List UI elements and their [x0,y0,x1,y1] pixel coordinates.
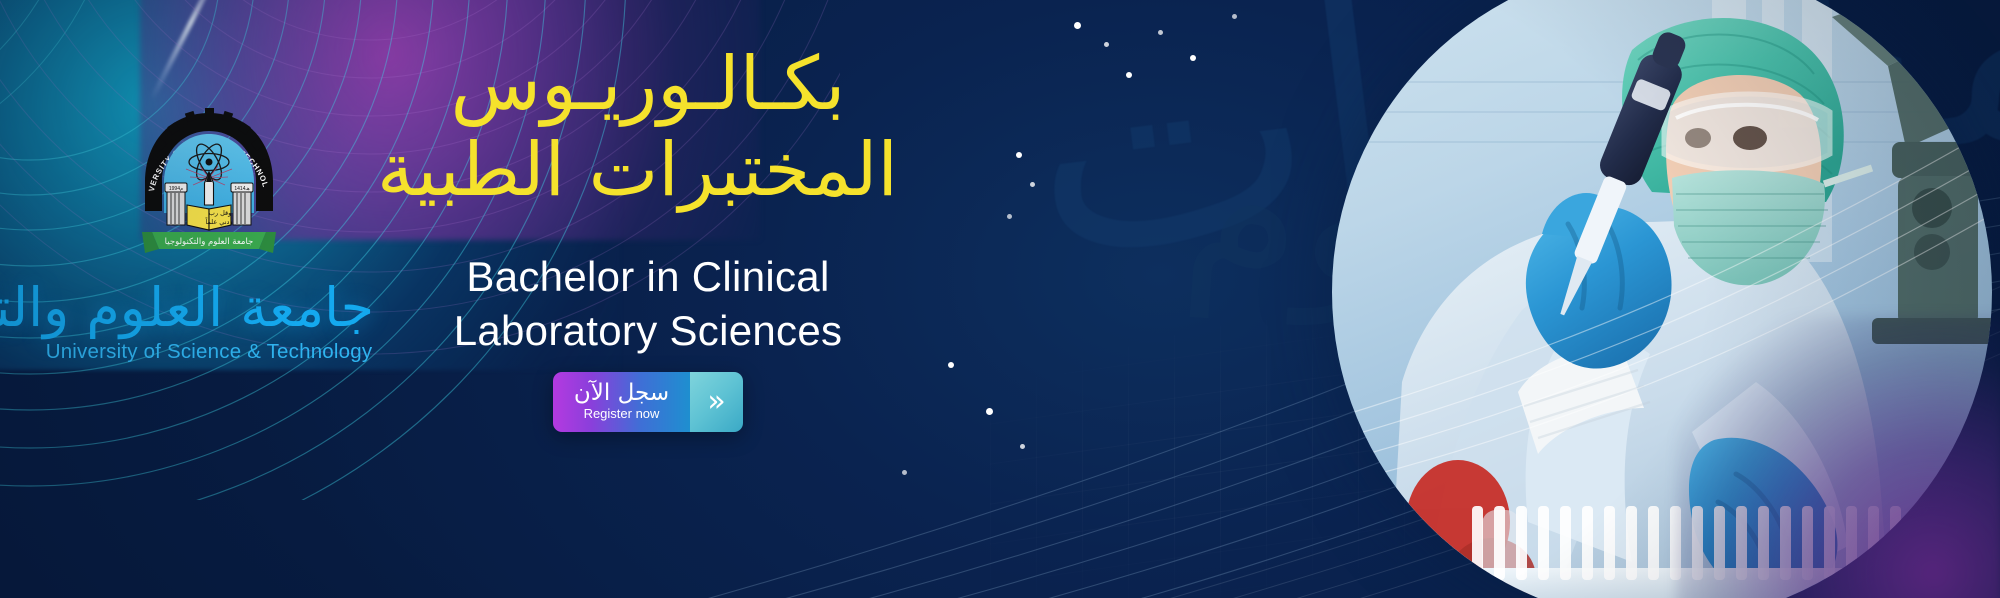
register-label-arabic: سجل الآن [574,381,669,405]
university-name-arabic: جامعة العلوم والتكنولوجيا [44,280,374,336]
headline-arabic: بكـالـوريـوس المختبرات الطبية [398,42,898,214]
decorative-dot [1074,22,1081,29]
chevron-right-double-icon[interactable]: » [690,372,743,432]
university-crest-icon: UNIVERSITY OF SCIENCE & TECHNOLOGY [134,106,284,258]
headline-line-2: المختبرات الطبية [398,128,898,214]
university-name-english: University of Science & Technology [44,340,374,364]
headline-line-1: بكـالـوريـوس [398,42,898,128]
register-button-label-group[interactable]: سجل الآن Register now [553,372,690,432]
decorative-dot [986,408,993,415]
svg-text:زدني علماً: زدني علماً [205,217,233,226]
svg-text:وقل رب: وقل رب [209,209,232,217]
corner-purple-glow [1676,316,2000,598]
decorative-dot [1158,30,1163,35]
decorative-dot [1104,42,1109,47]
subheadline-line-2: Laboratory Sciences [398,304,898,358]
svg-text:جامعة العلوم والتكنولوجيا: جامعة العلوم والتكنولوجيا [165,237,254,247]
decorative-dot [1030,182,1035,187]
hero-photo-container [1316,0,2000,598]
university-logo-block: UNIVERSITY OF SCIENCE & TECHNOLOGY [44,106,374,364]
register-label-english: Register now [584,407,660,421]
headline-english: Bachelor in Clinical Laboratory Sciences [398,250,898,358]
subheadline-line-1: Bachelor in Clinical [398,250,898,304]
decorative-dot [902,470,907,475]
svg-text:1994م: 1994م [169,186,183,192]
register-now-button[interactable]: سجل الآن Register now » [553,372,743,432]
decorative-dot [1190,55,1196,61]
decorative-dot [1007,214,1012,219]
decorative-dot [1126,72,1132,78]
decorative-dot [1016,152,1022,158]
promo-banner: المختبرات علوم [0,0,2000,598]
svg-text:1414هـ: 1414هـ [234,186,250,192]
decorative-dot [1232,14,1237,19]
decorative-dot [948,362,954,368]
decorative-dot [1020,444,1025,449]
